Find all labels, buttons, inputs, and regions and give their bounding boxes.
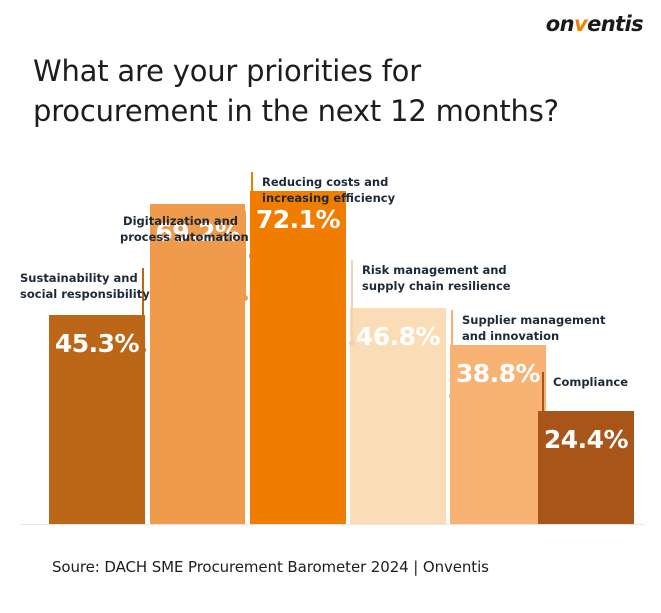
bar-2[interactable]: 69.2% <box>150 204 245 524</box>
bar-rect[interactable] <box>250 191 346 524</box>
bar-category-label-2: Digitalization andprocess automation <box>120 213 238 246</box>
logo-text-prefix: on <box>546 12 574 36</box>
bar-value-label: 72.1% <box>250 207 346 232</box>
bar-value-label: 45.3% <box>49 331 145 356</box>
callout-leader-line-1 <box>142 268 144 350</box>
bar-3[interactable]: 72.1% <box>250 191 346 524</box>
callout-leader-dot <box>242 295 248 301</box>
callout-leader-dot <box>449 393 455 399</box>
callout-leader-line-3 <box>251 172 253 256</box>
logo-text-suffix: entis <box>587 12 643 36</box>
bar-value-label: 38.8% <box>450 361 546 386</box>
bar-category-label-4: Risk management andsupply chain resilien… <box>362 262 497 295</box>
category-label-line-1: Supplier management <box>462 312 597 328</box>
bar-6[interactable]: 24.4% <box>538 411 634 524</box>
bar-category-label-6: Compliance <box>553 374 653 390</box>
callout-leader-dot <box>140 347 146 353</box>
page-title: What are your priorities for procurement… <box>33 51 553 131</box>
category-label-line-2: and innovation <box>462 328 597 344</box>
bar-chart: 45.3%69.2%72.1%46.8%38.8%24.4% Sustainab… <box>0 150 661 525</box>
bar-value-label: 46.8% <box>350 324 446 349</box>
bar-value-label: 24.4% <box>538 427 634 452</box>
callout-leader-line-2 <box>244 211 246 298</box>
logo-accent-letter: v <box>574 12 587 36</box>
chart-baseline <box>20 524 645 525</box>
category-label-line-1: Sustainability and <box>20 270 136 286</box>
category-label-line-1: Reducing costs and <box>262 174 392 190</box>
category-label-line-1: Digitalization and <box>120 213 238 229</box>
category-label-line-1: Risk management and <box>362 262 497 278</box>
source-caption: Soure: DACH SME Procurement Barometer 20… <box>52 558 489 576</box>
bar-1[interactable]: 45.3% <box>49 315 145 524</box>
category-label-line-2: social responsibility <box>20 286 136 302</box>
callout-leader-dot <box>249 253 255 259</box>
callout-leader-dot <box>540 450 546 456</box>
callout-leader-line-6 <box>542 372 544 453</box>
bar-category-label-3: Reducing costs andincreasing efficiency <box>262 174 392 207</box>
bar-category-label-1: Sustainability andsocial responsibility <box>20 270 136 303</box>
bar-category-label-5: Supplier managementand innovation <box>462 312 597 345</box>
bar-rect[interactable] <box>150 204 245 524</box>
category-label-line-2: supply chain resilience <box>362 278 497 294</box>
category-label-line-2: process automation <box>120 229 238 245</box>
title-line-2: procurement in the next 12 months? <box>33 91 553 131</box>
callout-leader-dot <box>349 340 355 346</box>
callout-leader-line-4 <box>351 260 353 343</box>
title-line-1: What are your priorities for <box>33 51 553 91</box>
bar-5[interactable]: 38.8% <box>450 345 546 524</box>
callout-leader-line-5 <box>451 310 453 396</box>
bar-4[interactable]: 46.8% <box>350 308 446 524</box>
onventis-logo: onventis <box>546 14 643 35</box>
category-label-line-1: Compliance <box>553 374 653 390</box>
category-label-line-2: increasing efficiency <box>262 190 392 206</box>
